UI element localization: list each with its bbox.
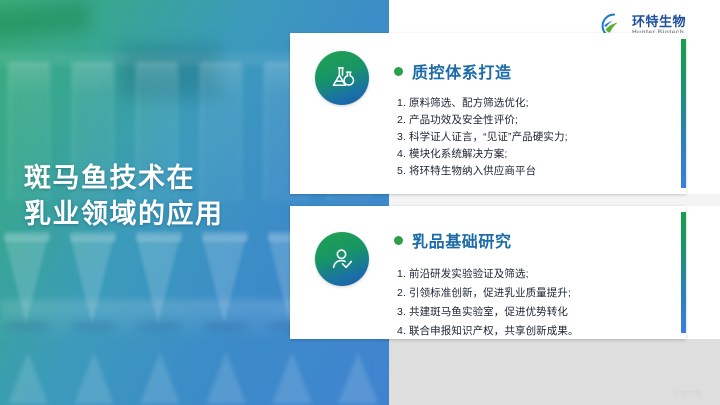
card-bullet-list: 1. 前沿研发实验验证及筛选; 2. 引领标准创新，促进乳业质量提升; 3. 共… bbox=[394, 265, 660, 341]
user-check-icon bbox=[315, 232, 369, 286]
bullet-dot-icon bbox=[394, 67, 403, 76]
slide-watermark: 环特生物 bbox=[672, 389, 702, 399]
card-accent-bar bbox=[681, 39, 686, 188]
card-body: 乳品基础研究 1. 前沿研发实验验证及筛选; 2. 引领标准创新，促进乳业质量提… bbox=[394, 206, 686, 341]
list-item: 3. 共建斑马鱼实验室，促进优势转化 bbox=[397, 303, 660, 322]
bullet-dot-icon bbox=[394, 236, 403, 245]
lab-flask-icon bbox=[315, 51, 369, 105]
card-title: 乳品基础研究 bbox=[412, 228, 512, 252]
slide-footer-band bbox=[388, 339, 720, 405]
list-item: 1. 前沿研发实验验证及筛选; bbox=[397, 265, 660, 284]
content-card-quality-control[interactable]: 质控体系打造 1. 原料筛选、配方筛选优化; 2. 产品功效及安全性评价; 3.… bbox=[290, 33, 686, 194]
content-card-dairy-research[interactable]: 乳品基础研究 1. 前沿研发实验验证及筛选; 2. 引领标准创新，促进乳业质量提… bbox=[290, 206, 686, 339]
card-icon-slot bbox=[290, 33, 394, 105]
brand-name-cn: 环特生物 bbox=[632, 15, 686, 28]
list-item: 5. 将环特生物纳入供应商平台 bbox=[397, 163, 660, 180]
list-item: 3. 科学证人证言，“见证”产品硬实力; bbox=[397, 129, 660, 146]
card-body: 质控体系打造 1. 原料筛选、配方筛选优化; 2. 产品功效及安全性评价; 3.… bbox=[394, 33, 686, 180]
card-title: 质控体系打造 bbox=[412, 59, 512, 83]
card-bullet-list: 1. 原料筛选、配方筛选优化; 2. 产品功效及安全性评价; 3. 科学证人证言… bbox=[394, 95, 660, 180]
list-item: 4. 模块化系统解决方案; bbox=[397, 146, 660, 163]
card-header: 乳品基础研究 bbox=[394, 206, 660, 252]
list-item: 1. 原料筛选、配方筛选优化; bbox=[397, 95, 660, 112]
card-accent-bar bbox=[681, 212, 686, 333]
card-header: 质控体系打造 bbox=[394, 33, 660, 83]
slide-headline: 斑马鱼技术在 乳业领域的应用 bbox=[24, 160, 324, 232]
list-item: 4. 联合申报知识产权，共享创新成果。 bbox=[397, 322, 660, 341]
list-item: 2. 产品功效及安全性评价; bbox=[397, 112, 660, 129]
test-tube-reflection-row-1 bbox=[0, 352, 389, 405]
presentation-slide: 环特生物 斑 bbox=[0, 0, 720, 405]
list-item: 2. 引领标准创新，促进乳业质量提升; bbox=[397, 284, 660, 303]
photo-highlight-green bbox=[0, 0, 91, 41]
card-icon-slot bbox=[290, 206, 394, 286]
card-gap-strip bbox=[388, 194, 720, 206]
